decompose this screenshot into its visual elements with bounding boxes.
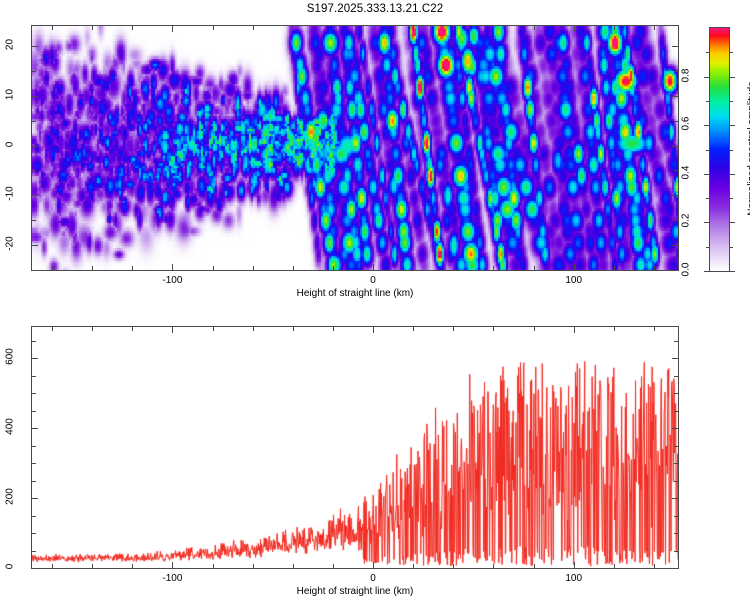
axis-tick-label: 0.4 [681,157,692,187]
axis-tick [672,96,678,97]
axis-tick [453,266,454,270]
axis-tick [453,564,454,568]
axis-tick [654,564,655,568]
snr-trace [32,327,678,568]
axis-tick [614,564,615,568]
axis-tick [704,77,709,78]
axis-tick [373,26,374,32]
axis-tick-label: -100 [152,573,192,584]
axis-tick [730,271,735,272]
axis-tick [32,358,38,359]
axis-tick-label: 600 [5,340,16,374]
axis-tick [32,245,38,246]
axis-tick [654,266,655,270]
axis-tick [293,26,294,30]
axis-tick [534,564,535,568]
axis-tick [413,327,414,331]
axis-tick [674,393,678,394]
axis-tick [674,516,678,517]
axis-tick [493,564,494,568]
axis-tick [706,198,709,199]
axis-tick [674,551,678,552]
axis-tick [674,170,678,171]
axis-tick [32,170,36,171]
axis-tick [493,327,494,331]
axis-tick [453,26,454,30]
axis-tick-label: 20 [5,27,16,61]
axis-tick [32,551,36,552]
axis-tick [32,341,36,342]
axis-tick [614,327,615,331]
axis-tick [32,428,38,429]
axis-tick [672,195,678,196]
axis-tick [672,568,678,569]
axis-tick [172,26,173,32]
axis-tick [574,26,575,32]
axis-tick-label: 200 [5,480,16,514]
axis-tick [672,245,678,246]
axis-tick [213,26,214,30]
axis-tick-label: 10 [5,77,16,111]
axis-tick [32,393,36,394]
spectrogram-image [32,26,678,270]
axis-tick [92,327,93,331]
colorbar [709,27,730,272]
axis-tick [32,516,36,517]
axis-tick-label: -100 [152,275,192,286]
axis-tick [574,264,575,270]
axis-tick [674,71,678,72]
axis-tick [92,266,93,270]
axis-tick [453,327,454,331]
axis-tick [373,327,374,333]
axis-tick [674,341,678,342]
axis-tick [172,327,173,333]
axis-tick [730,77,735,78]
axis-tick [674,220,678,221]
axis-tick [32,146,38,147]
axis-tick [52,564,53,568]
axis-tick-label: -10 [5,177,16,211]
axis-tick [32,121,36,122]
axis-tick [730,101,733,102]
axis-tick [706,150,709,151]
axis-tick [333,26,334,30]
axis-tick [706,247,709,248]
axis-tick [253,26,254,30]
axis-tick [373,264,374,270]
axis-tick [293,564,294,568]
axis-tick [32,533,36,534]
axis-tick [730,247,733,248]
axis-tick [704,222,709,223]
axis-tick [32,270,36,271]
axis-tick-label: 0.6 [681,109,692,139]
axis-tick [614,26,615,30]
axis-tick [672,498,678,499]
axis-tick [213,327,214,331]
axis-tick [32,568,38,569]
axis-tick [172,562,173,568]
axis-tick [413,266,414,270]
axis-tick [92,564,93,568]
axis-tick [574,562,575,568]
spectrogram-x-axis-title: Height of straight line (km) [245,288,465,299]
axis-tick-label: 0.0 [681,255,692,285]
axis-tick [32,96,38,97]
axis-tick-label: 100 [554,573,594,584]
axis-tick [253,564,254,568]
axis-tick-label: 0 [5,550,16,584]
axis-tick [706,101,709,102]
axis-tick [534,266,535,270]
axis-tick [253,327,254,331]
spectrogram-panel [31,25,679,271]
axis-tick [132,26,133,30]
axis-tick [52,26,53,30]
axis-tick [493,26,494,30]
axis-tick [534,327,535,331]
axis-tick [32,195,38,196]
axis-tick [534,26,535,30]
axis-tick [674,463,678,464]
axis-tick [52,327,53,331]
axis-tick [213,564,214,568]
axis-tick [674,533,678,534]
axis-tick [253,266,254,270]
axis-tick-label: 400 [5,410,16,444]
axis-tick-label: 0 [353,573,393,584]
axis-tick [730,125,735,126]
axis-tick [674,376,678,377]
axis-tick [493,266,494,270]
colorbar-gradient [710,28,729,271]
axis-tick-label: 0.8 [681,60,692,90]
axis-tick [654,26,655,30]
axis-tick [293,266,294,270]
axis-tick [413,26,414,30]
axis-tick [333,564,334,568]
axis-tick [92,26,93,30]
axis-tick [654,327,655,331]
axis-tick [730,52,733,53]
axis-tick [672,358,678,359]
axis-tick-label: 0 [353,275,393,286]
axis-tick [32,463,36,464]
axis-tick [132,564,133,568]
axis-tick [614,266,615,270]
axis-tick [674,121,678,122]
axis-tick [704,174,709,175]
axis-tick [32,71,36,72]
axis-tick-label: 0.2 [681,206,692,236]
axis-tick [373,562,374,568]
axis-tick [674,446,678,447]
axis-tick [32,446,36,447]
axis-tick [674,411,678,412]
axis-tick [730,150,733,151]
figure-root: S197.2025.333.13.21.C22 -1000100-20-1001… [0,0,750,600]
axis-tick [672,146,678,147]
axis-tick [333,327,334,331]
figure-title: S197.2025.333.13.21.C22 [0,3,750,15]
axis-tick-label: 0 [5,127,16,161]
axis-tick-label: 100 [554,275,594,286]
axis-tick [674,270,678,271]
snr-panel [31,326,679,569]
axis-tick [32,376,36,377]
axis-tick [730,198,733,199]
axis-tick [32,220,36,221]
axis-tick [333,266,334,270]
axis-tick [52,266,53,270]
axis-tick [704,271,709,272]
axis-tick [730,174,735,175]
axis-tick [132,266,133,270]
axis-tick-label: -20 [5,227,16,261]
axis-tick [674,481,678,482]
axis-tick [32,411,36,412]
colorbar-title: Normalized spectral amplitude [747,48,750,248]
axis-tick [172,264,173,270]
axis-tick [32,498,38,499]
snr-x-axis-title: Height of straight line (km) [245,586,465,597]
axis-tick [574,327,575,333]
axis-tick [672,428,678,429]
axis-tick [213,266,214,270]
axis-tick [704,125,709,126]
axis-tick [293,327,294,331]
axis-tick [706,52,709,53]
axis-tick [413,564,414,568]
axis-tick [730,222,735,223]
axis-tick [32,481,36,482]
axis-tick [672,46,678,47]
axis-tick [132,327,133,331]
axis-tick [32,46,38,47]
